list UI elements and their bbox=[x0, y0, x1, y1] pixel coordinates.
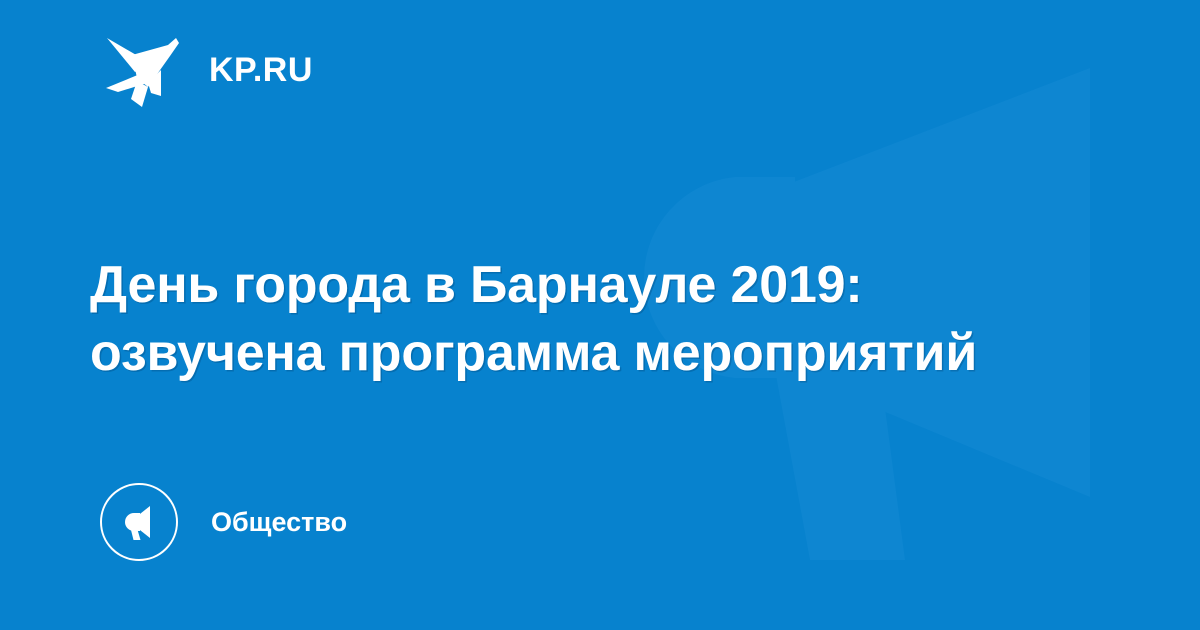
swallow-bird-icon bbox=[104, 33, 186, 107]
page-title: День города в Барнауле 2019: озвучена пр… bbox=[90, 251, 1100, 388]
megaphone-icon bbox=[117, 500, 161, 544]
article-share-card: KP.RU День города в Барнауле 2019: озвуч… bbox=[0, 0, 1200, 630]
rubric-icon-circle bbox=[100, 483, 178, 561]
page-title-line-2: озвучена программа мероприятий bbox=[90, 319, 1100, 388]
page-title-line-1: День города в Барнауле 2019: bbox=[90, 251, 1100, 320]
brand-logo[interactable]: KP.RU bbox=[104, 33, 313, 107]
rubric-badge[interactable]: Общество bbox=[100, 482, 347, 562]
rubric-label: Общество bbox=[211, 509, 347, 536]
brand-name: KP.RU bbox=[209, 53, 313, 87]
